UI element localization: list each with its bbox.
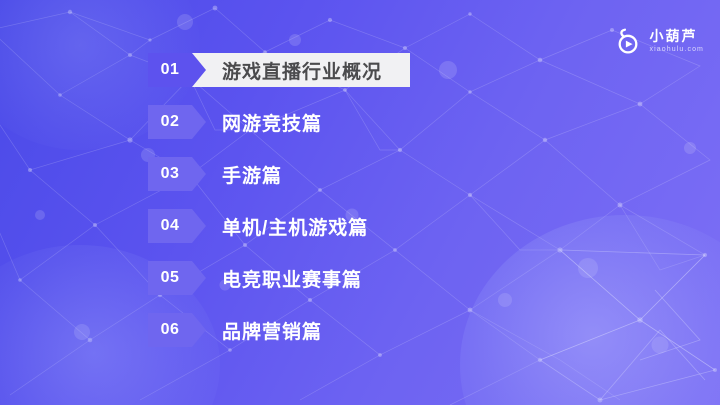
agenda-number-badge: 02 (148, 105, 192, 139)
agenda-item-06[interactable]: 06 品牌营销篇 (148, 308, 668, 352)
agenda-number-badge: 05 (148, 261, 192, 295)
agenda-item-04[interactable]: 04 单机/主机游戏篇 (148, 204, 668, 248)
agenda-item-title: 手游篇 (222, 161, 282, 188)
agenda-item-title: 单机/主机游戏篇 (222, 213, 368, 240)
agenda-item-title: 品牌营销篇 (222, 317, 322, 344)
agenda-item-title: 游戏直播行业概况 (222, 57, 382, 84)
agenda-list: 01 游戏直播行业概况 02 网游竞技篇 03 手游篇 04 单机/主机游戏篇 … (148, 48, 668, 360)
agenda-item-02[interactable]: 02 网游竞技篇 (148, 100, 668, 144)
agenda-item-05[interactable]: 05 电竞职业赛事篇 (148, 256, 668, 300)
agenda-number-badge: 01 (148, 53, 192, 87)
logo-brand-name: 小葫芦 (650, 29, 704, 43)
slide-canvas: 小葫芦 xiaohulu.com 01 游戏直播行业概况 02 网游竞技篇 03… (0, 0, 720, 405)
agenda-item-title: 网游竞技篇 (222, 109, 322, 136)
agenda-number-badge: 04 (148, 209, 192, 243)
agenda-number-badge: 06 (148, 313, 192, 347)
agenda-number-badge: 03 (148, 157, 192, 191)
agenda-item-01[interactable]: 01 游戏直播行业概况 (148, 48, 668, 92)
agenda-item-03[interactable]: 03 手游篇 (148, 152, 668, 196)
agenda-item-title: 电竞职业赛事篇 (222, 265, 362, 292)
